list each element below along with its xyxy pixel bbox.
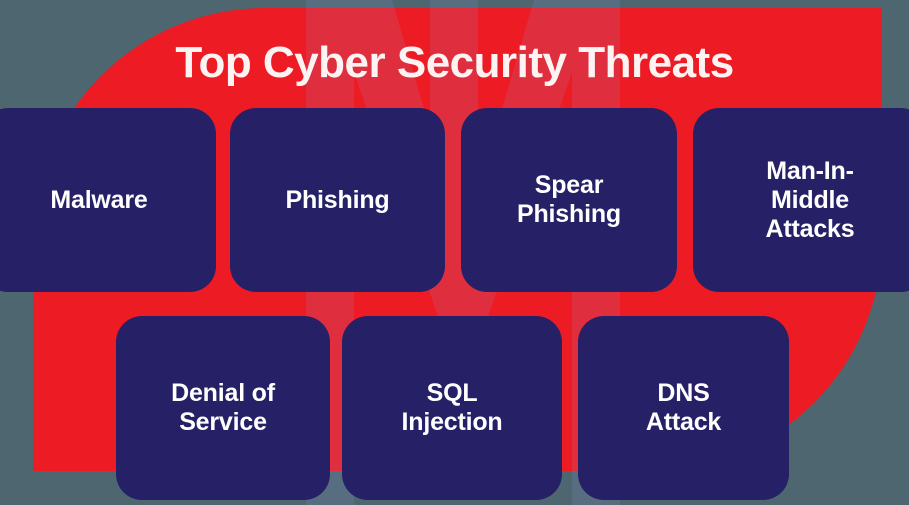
threat-card-label: Phishing bbox=[286, 186, 390, 215]
page-title: Top Cyber Security Threats bbox=[0, 30, 909, 96]
threat-card-label: Denial of Service bbox=[171, 379, 275, 437]
threat-card-phishing[interactable]: Phishing bbox=[230, 108, 445, 292]
threat-card-sql-injection[interactable]: SQL Injection bbox=[342, 316, 562, 500]
threat-card-label: DNS Attack bbox=[646, 379, 721, 437]
threat-card-label: Spear Phishing bbox=[517, 171, 621, 229]
threat-card-malware[interactable]: Malware bbox=[0, 108, 216, 292]
threat-card-label: Malware bbox=[50, 186, 147, 215]
threat-card-dns-attack[interactable]: DNS Attack bbox=[578, 316, 789, 500]
threat-card-denial-of-service[interactable]: Denial of Service bbox=[116, 316, 330, 500]
threat-card-label: SQL Injection bbox=[402, 379, 503, 437]
infographic-canvas: Top Cyber Security Threats Malware Phish… bbox=[0, 0, 909, 505]
page-title-text: Top Cyber Security Threats bbox=[175, 38, 733, 88]
threat-card-label: Man-In- Middle Attacks bbox=[766, 157, 855, 244]
threat-card-man-in-middle-attacks[interactable]: Man-In- Middle Attacks bbox=[693, 108, 909, 292]
threat-card-spear-phishing[interactable]: Spear Phishing bbox=[461, 108, 677, 292]
